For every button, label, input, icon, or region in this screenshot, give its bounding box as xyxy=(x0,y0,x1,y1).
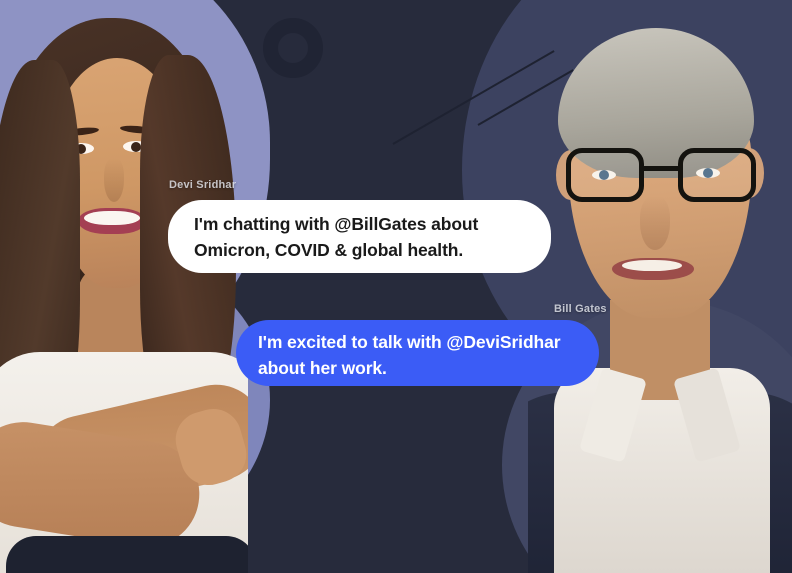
bill-teeth xyxy=(622,260,682,271)
bill-mouth xyxy=(612,258,694,280)
portrait-bill-gates xyxy=(528,0,792,573)
chat-bubble-devi-sridhar: I'm chatting with @BillGates about Omicr… xyxy=(168,200,551,273)
chat-bubble-bill-line-1: I'm excited to talk with @DeviSridhar xyxy=(258,329,577,355)
portrait-devi-sridhar xyxy=(0,0,248,573)
chat-bubble-devi-line-2: Omicron, COVID & global health. xyxy=(194,237,525,263)
bill-nose xyxy=(640,196,670,250)
chat-bubble-bill-line-2: about her work. xyxy=(258,355,577,381)
devi-teeth xyxy=(84,211,140,225)
chat-bubble-bill-gates: I'm excited to talk with @DeviSridhar ab… xyxy=(236,320,599,386)
eyeglasses-icon xyxy=(566,148,756,204)
bill-lens-right xyxy=(678,148,756,202)
graphic-canvas: Devi Sridhar Bill Gates I'm chatting wit… xyxy=(0,0,792,573)
devi-lower-garment xyxy=(6,536,248,573)
devi-mouth xyxy=(78,208,146,234)
bill-glasses-bridge xyxy=(642,166,682,171)
chat-bubble-devi-line-1: I'm chatting with @BillGates about xyxy=(194,211,525,237)
name-label-devi-sridhar: Devi Sridhar xyxy=(169,179,236,191)
name-label-bill-gates: Bill Gates xyxy=(554,303,607,315)
bill-lens-left xyxy=(566,148,644,202)
devi-nose xyxy=(104,158,124,202)
ring-shape-icon xyxy=(263,18,323,78)
